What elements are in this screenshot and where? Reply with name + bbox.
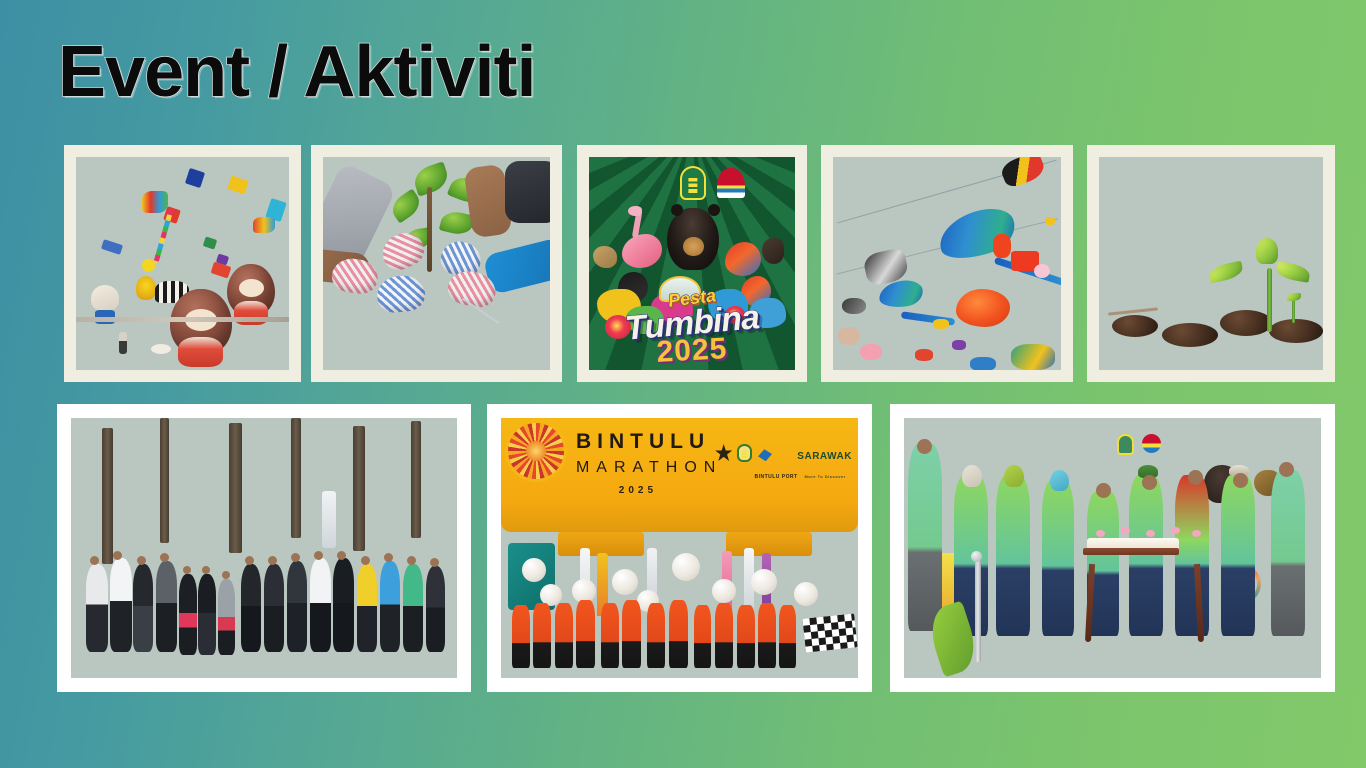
crowd-person bbox=[380, 561, 400, 652]
crowd-person bbox=[264, 564, 284, 652]
tree-trunk bbox=[411, 421, 421, 538]
marathon-title-marathon: MARATHON bbox=[576, 460, 722, 476]
crowd-person-vip bbox=[333, 558, 354, 652]
crowd-person bbox=[198, 574, 216, 655]
cake-decoration bbox=[1096, 530, 1105, 537]
crowd-person bbox=[133, 564, 153, 652]
crowd-head bbox=[314, 551, 323, 560]
horizon-line bbox=[76, 317, 289, 322]
kite-shape bbox=[952, 340, 966, 350]
marathon-runner bbox=[694, 605, 711, 667]
kite-shape bbox=[203, 236, 218, 249]
crowd-person bbox=[241, 564, 261, 652]
bda-logo-icon bbox=[680, 166, 706, 200]
sprout-stem bbox=[1267, 268, 1272, 332]
kite-shape bbox=[1011, 344, 1055, 370]
marathon-title-bintulu: BINTULU bbox=[576, 431, 710, 452]
dragon-kite bbox=[933, 201, 1021, 267]
dinosaur-kite bbox=[956, 289, 1010, 327]
checkered-flag bbox=[803, 613, 858, 652]
guest-hijab bbox=[1004, 465, 1024, 487]
ceremony-table-top bbox=[1083, 548, 1179, 555]
ceremony-guest bbox=[1271, 470, 1305, 636]
gallery-item-pesta-tumbina[interactable]: Pesta Tumbina 2025 bbox=[577, 145, 807, 382]
gallery-item-kite-festival[interactable] bbox=[64, 145, 301, 382]
kite-shape bbox=[838, 327, 860, 345]
white-balloon bbox=[751, 569, 777, 595]
guest-hijab bbox=[1050, 470, 1069, 491]
kite-shape bbox=[933, 319, 949, 329]
flamingo-head bbox=[628, 206, 642, 216]
tree-trunk bbox=[291, 418, 301, 538]
white-balloon bbox=[672, 553, 700, 581]
kite-shape bbox=[100, 239, 122, 255]
crowd-person bbox=[179, 574, 197, 655]
person-bag bbox=[505, 161, 550, 223]
photo-community-run-group bbox=[71, 418, 457, 678]
chipmunk-kite bbox=[170, 289, 232, 355]
marathon-title-year: 2025 bbox=[619, 486, 657, 496]
crowd-head bbox=[222, 571, 230, 579]
kite-shape bbox=[1045, 217, 1055, 225]
crowd-head bbox=[137, 556, 146, 565]
photo-cake-cutting-ceremony bbox=[904, 418, 1321, 678]
sarawak-label: SARAWAK bbox=[797, 452, 852, 462]
tree-trunk bbox=[160, 418, 169, 543]
crowd-head bbox=[160, 553, 169, 562]
crowd-head bbox=[407, 556, 416, 565]
white-balloon bbox=[794, 582, 818, 606]
kite-shape bbox=[993, 234, 1011, 258]
kite-shape bbox=[998, 157, 1047, 190]
photo-animal-kites-sky bbox=[833, 157, 1061, 370]
marathon-runner bbox=[622, 600, 641, 668]
crowd-person bbox=[357, 564, 377, 652]
stanchion-ball bbox=[971, 551, 982, 562]
gallery-item-community-run[interactable] bbox=[57, 404, 471, 692]
photo-tree-planting-hands bbox=[323, 157, 550, 370]
guest-head bbox=[1233, 473, 1248, 488]
cake-decoration bbox=[1146, 530, 1155, 537]
kite-shape bbox=[136, 276, 156, 300]
crowd-person bbox=[86, 564, 108, 652]
crowd-head bbox=[202, 566, 210, 574]
bintulu-port-label: BINTULU PORT bbox=[754, 475, 797, 480]
marathon-runner bbox=[737, 605, 755, 667]
stanchion-post bbox=[975, 558, 981, 662]
guest-head bbox=[1142, 475, 1157, 490]
ceremony-guest bbox=[996, 475, 1030, 636]
crowd-person bbox=[426, 566, 445, 652]
marathon-runner bbox=[512, 605, 530, 667]
crowd-person bbox=[287, 561, 307, 652]
sarawak-tagline: More To Discover bbox=[804, 475, 845, 479]
crowd-head bbox=[245, 556, 254, 565]
image-gallery: Pesta Tumbina 2025 bbox=[0, 0, 1366, 768]
kite-shape bbox=[211, 261, 232, 278]
sun-bear-graphic bbox=[667, 208, 719, 270]
photo-kite-festival-chipmunk bbox=[76, 157, 289, 370]
crowd-head bbox=[361, 556, 370, 565]
soil-clump bbox=[1112, 315, 1158, 337]
guest-hijab bbox=[962, 465, 982, 487]
sprout-leaf-left bbox=[1207, 260, 1244, 283]
kite-shape bbox=[860, 344, 882, 360]
chipmunk-kite bbox=[227, 264, 275, 316]
cake-decoration bbox=[1121, 527, 1130, 534]
guest-head bbox=[917, 439, 932, 454]
ceremony-guest bbox=[1042, 480, 1074, 636]
marathon-runner bbox=[601, 603, 619, 668]
gardening-glove bbox=[330, 256, 380, 296]
macaw-graphic bbox=[725, 242, 761, 276]
sprout-leaf-right bbox=[1275, 261, 1311, 283]
marathon-sunburst-logo-icon bbox=[508, 423, 564, 479]
spectator-figure bbox=[119, 332, 127, 354]
marathon-runner bbox=[669, 600, 688, 668]
kite-shape bbox=[185, 168, 205, 188]
ceremony-guest bbox=[1129, 475, 1163, 636]
cake-decoration bbox=[1192, 530, 1201, 537]
white-balloon bbox=[612, 569, 638, 595]
marathon-runner bbox=[576, 600, 595, 668]
sprout-stem-small bbox=[1292, 298, 1295, 324]
white-balloon bbox=[712, 579, 736, 603]
crowd-person bbox=[110, 558, 132, 652]
kite-shape bbox=[253, 217, 275, 233]
marathon-runner bbox=[533, 603, 551, 668]
kite-shape bbox=[970, 357, 996, 370]
photo-seedling-sunlight bbox=[1099, 157, 1323, 370]
tree-trunk bbox=[102, 428, 113, 563]
guest-head bbox=[1096, 483, 1111, 498]
gallery-item-bintulu-marathon[interactable]: BINTULU MARATHON 2025 BINTULU PORT SARAW… bbox=[487, 404, 872, 692]
ceremony-guest bbox=[1221, 475, 1255, 636]
kite-shape bbox=[142, 191, 168, 213]
ceremony-guest bbox=[908, 444, 942, 631]
kite-shape bbox=[228, 176, 249, 195]
kite-shape bbox=[151, 344, 171, 354]
crowd-person-vip bbox=[310, 558, 331, 652]
marathon-runner bbox=[647, 603, 665, 668]
smiley-kite-shape bbox=[142, 259, 155, 272]
crowd-person bbox=[218, 579, 235, 654]
kite-shape bbox=[842, 298, 866, 314]
crowd-head bbox=[268, 556, 277, 565]
sprout-leaf-small bbox=[1287, 293, 1301, 301]
marathon-runner bbox=[758, 603, 776, 668]
sapling-stem bbox=[427, 187, 432, 272]
soil-clump bbox=[1269, 319, 1323, 343]
deer-graphic bbox=[593, 246, 617, 268]
soil-clump bbox=[1162, 323, 1218, 347]
bda-logo-icon bbox=[737, 444, 752, 462]
crowd-person bbox=[403, 564, 423, 652]
gardening-glove bbox=[376, 274, 428, 315]
sarawak-logo-icon bbox=[717, 168, 745, 198]
photo-bintulu-marathon-startline: BINTULU MARATHON 2025 BINTULU PORT SARAW… bbox=[501, 418, 858, 678]
gallery-item-seedling[interactable] bbox=[1087, 145, 1335, 382]
crowd-head bbox=[337, 551, 346, 560]
crowd-head bbox=[183, 566, 191, 574]
marathon-runner bbox=[779, 605, 796, 667]
kite-shape bbox=[915, 349, 933, 361]
gallery-item-cake-ceremony[interactable] bbox=[890, 404, 1335, 692]
tapir-graphic bbox=[762, 238, 784, 264]
sprout-leaf-top bbox=[1256, 238, 1278, 264]
marathon-runner bbox=[555, 603, 573, 668]
kite-shape bbox=[1034, 264, 1050, 278]
ceremony-guest-vip bbox=[1175, 475, 1209, 636]
crowd-person bbox=[156, 561, 177, 652]
marathon-runner bbox=[715, 603, 733, 668]
crowd-head bbox=[384, 553, 393, 562]
sarawak-logo-icon bbox=[1142, 434, 1161, 453]
tree-trunk bbox=[229, 423, 242, 553]
photo-pesta-tumbina-poster: Pesta Tumbina 2025 bbox=[589, 157, 795, 370]
kite-shape bbox=[91, 285, 119, 311]
bda-logo-icon bbox=[1117, 434, 1134, 455]
gallery-item-animal-kites[interactable] bbox=[821, 145, 1073, 382]
tree-trunk bbox=[353, 426, 365, 551]
gallery-item-tree-planting[interactable] bbox=[311, 145, 562, 382]
guest-head bbox=[1188, 470, 1203, 485]
soil-clump bbox=[1220, 310, 1272, 336]
event-banner bbox=[322, 491, 336, 548]
